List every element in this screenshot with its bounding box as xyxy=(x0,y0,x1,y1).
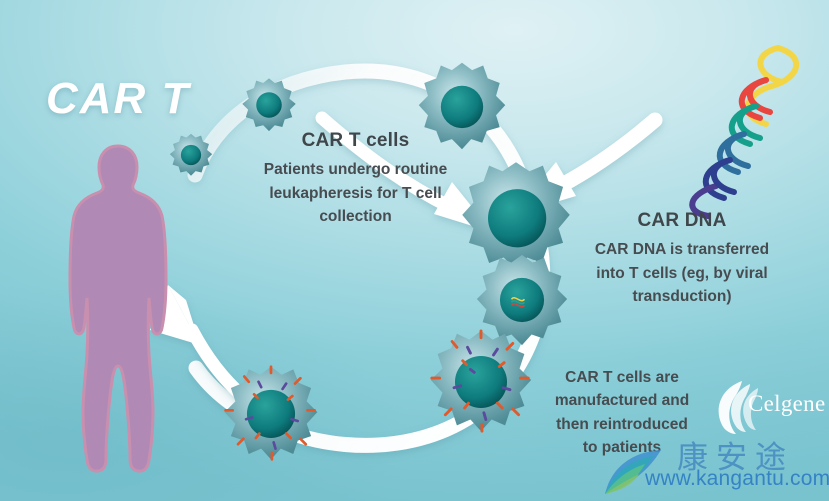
watermark-url: www.kangantu.com xyxy=(645,467,829,491)
car-t-cell-bottom-right xyxy=(428,328,534,434)
body-line: leukapheresis for T cell xyxy=(243,182,468,206)
celgene-wordmark: Celgene xyxy=(748,391,825,417)
body-line: manufactured and xyxy=(524,389,720,412)
celgene-logo: Celgene xyxy=(712,379,816,435)
body-line: transduction) xyxy=(571,285,793,309)
step-body: CAR DNA is transferred into T cells (eg,… xyxy=(571,238,793,309)
step-heading: CAR T cells xyxy=(243,130,468,152)
body-line: CAR DNA is transferred xyxy=(571,238,793,262)
t-cell-small-2 xyxy=(240,76,298,134)
site-watermark: 康安途 www.kangantu.com xyxy=(617,432,829,494)
patient-silhouette xyxy=(58,140,178,480)
body-line: Patients undergo routine xyxy=(243,158,468,182)
infographic-canvas: CAR T xyxy=(0,0,829,501)
page-title: CAR T xyxy=(46,74,190,124)
step-heading: CAR DNA xyxy=(571,210,793,232)
body-line: into T cells (eg, by viral xyxy=(571,262,793,286)
step-body: Patients undergo routine leukapheresis f… xyxy=(243,158,468,229)
body-line: collection xyxy=(243,205,468,229)
step-car-dna: CAR DNA CAR DNA is transferred into T ce… xyxy=(571,210,793,309)
body-line: CAR T cells are xyxy=(524,366,720,389)
car-t-cell-bottom-left xyxy=(222,364,320,462)
car-dna-helix xyxy=(660,30,820,220)
step-car-t-cells: CAR T cells Patients undergo routine leu… xyxy=(243,130,468,229)
